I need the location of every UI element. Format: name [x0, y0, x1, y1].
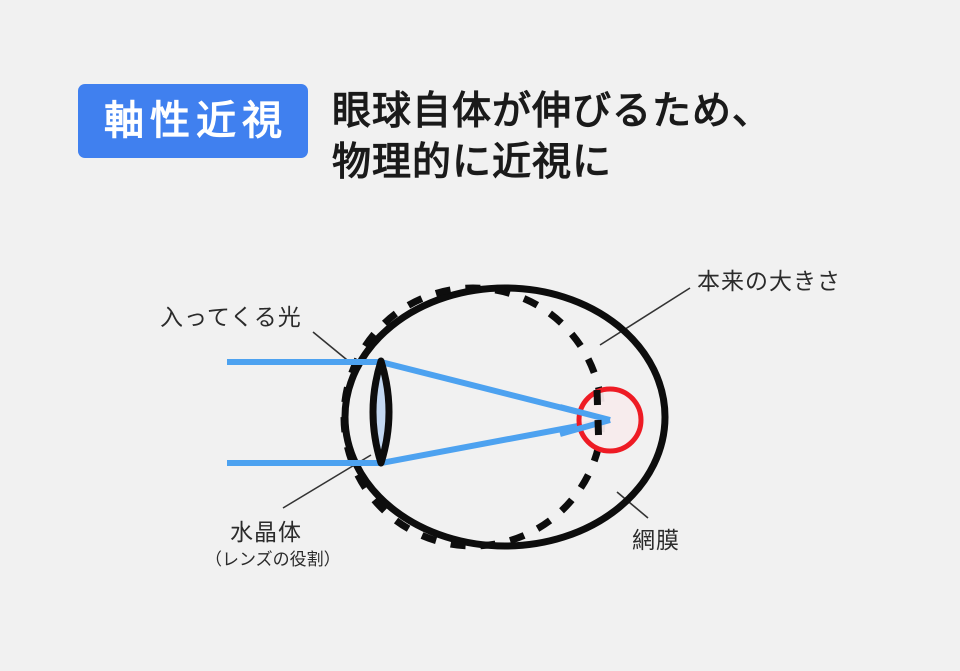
label-lens: 水晶体 — [230, 513, 302, 547]
leader-line-original-size — [600, 288, 690, 345]
label-retina: 網膜 — [632, 521, 680, 555]
slide-canvas: 軸性近視 眼球自体が伸びるため、 物理的に近視に — [0, 0, 960, 671]
label-lens-sublabel: （レンズの役割） — [205, 545, 341, 570]
light-ray-top — [227, 362, 610, 420]
label-original-size: 本来の大きさ — [697, 262, 841, 296]
crystalline-lens — [373, 361, 389, 463]
label-incoming-light: 入ってくる光 — [160, 298, 302, 332]
eye-diagram: 入ってくる光 本来の大きさ 水晶体 （レンズの役割） 網膜 — [0, 0, 960, 671]
eye-diagram-svg — [0, 0, 960, 671]
light-rays — [227, 362, 610, 463]
light-ray-bottom — [227, 420, 610, 463]
